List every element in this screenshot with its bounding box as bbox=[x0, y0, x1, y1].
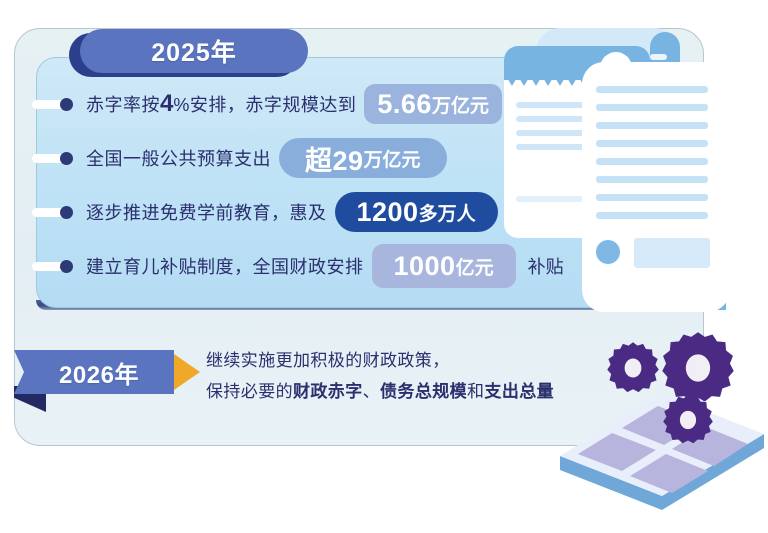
value-number: 1000 bbox=[394, 251, 456, 282]
list-item: 逐步推进免费学前教育，惠及 1200多万人 bbox=[36, 189, 636, 235]
item-prefix: 建立育儿补贴制度，全国财政安排 bbox=[86, 257, 364, 277]
value-number: 1200 bbox=[357, 197, 419, 228]
year-2025-item-list: 赤字率按4%安排，赤字规模达到 5.66万亿元 全国一般公共预算支出 超29万亿… bbox=[36, 57, 636, 308]
year-2026-policy-text: 继续实施更加积极的财政政策， 保持必要的财政赤字、债务总规模和支出总量 bbox=[206, 345, 626, 407]
item-suffix: 补贴 bbox=[528, 253, 564, 279]
arrow-right-icon bbox=[174, 354, 200, 390]
item-prefix: 逐步推进免费学前教育，惠及 bbox=[86, 203, 327, 223]
policy-line-2: 保持必要的财政赤字、债务总规模和支出总量 bbox=[206, 376, 626, 407]
bullet-icon bbox=[32, 152, 78, 164]
bullet-icon bbox=[32, 98, 78, 110]
item-prefix-tail: %安排，赤字规模达到 bbox=[173, 95, 356, 115]
policy-line2-lead: 保持必要的 bbox=[206, 382, 293, 401]
value-badge: 超29万亿元 bbox=[279, 138, 447, 178]
policy-conj: 和 bbox=[467, 382, 484, 401]
value-badge: 1000亿元 bbox=[372, 244, 516, 288]
value-number: 5.66 bbox=[377, 89, 432, 120]
bullet-icon bbox=[32, 260, 78, 272]
item-prefix: 赤字率按 bbox=[86, 95, 160, 115]
policy-line-1: 继续实施更加积极的财政政策， bbox=[206, 345, 626, 376]
infographic-canvas: 2025年 赤字率按4%安排，赤字规模达到 5.66万亿元 全国一般公共预算支出… bbox=[0, 0, 768, 533]
list-item-text: 赤字率按4%安排，赤字规模达到 bbox=[86, 90, 356, 118]
value-unit: 万亿元 bbox=[432, 91, 489, 118]
value-number: 超29 bbox=[305, 139, 364, 178]
list-item: 赤字率按4%安排，赤字规模达到 5.66万亿元 bbox=[36, 81, 636, 127]
value-unit: 万亿元 bbox=[364, 145, 421, 172]
item-prefix: 全国一般公共预算支出 bbox=[86, 149, 271, 169]
list-item: 全国一般公共预算支出 超29万亿元 bbox=[36, 135, 636, 181]
year-2026-banner-label: 2026年 bbox=[49, 355, 139, 390]
value-badge: 5.66万亿元 bbox=[364, 84, 502, 124]
year-2026-banner: 2026年 bbox=[14, 350, 174, 394]
value-unit: 亿元 bbox=[456, 253, 494, 280]
value-unit: 多万人 bbox=[419, 199, 476, 226]
gear-icon bbox=[605, 340, 661, 396]
value-badge: 1200多万人 bbox=[335, 192, 498, 232]
policy-term-expenditure: 支出总量 bbox=[484, 382, 554, 401]
policy-term-debt: 债务总规模 bbox=[380, 382, 467, 401]
policy-sep: 、 bbox=[363, 382, 380, 401]
bullet-icon bbox=[32, 206, 78, 218]
list-item-text: 逐步推进免费学前教育，惠及 bbox=[86, 199, 327, 225]
list-item-text: 全国一般公共预算支出 bbox=[86, 145, 271, 171]
list-item: 建立育儿补贴制度，全国财政安排 1000亿元 补贴 bbox=[36, 243, 636, 289]
item-emphasis: 4 bbox=[160, 90, 173, 117]
gear-icon bbox=[661, 393, 715, 447]
list-item-text: 建立育儿补贴制度，全国财政安排 bbox=[86, 253, 364, 279]
policy-term-deficit: 财政赤字 bbox=[293, 382, 363, 401]
